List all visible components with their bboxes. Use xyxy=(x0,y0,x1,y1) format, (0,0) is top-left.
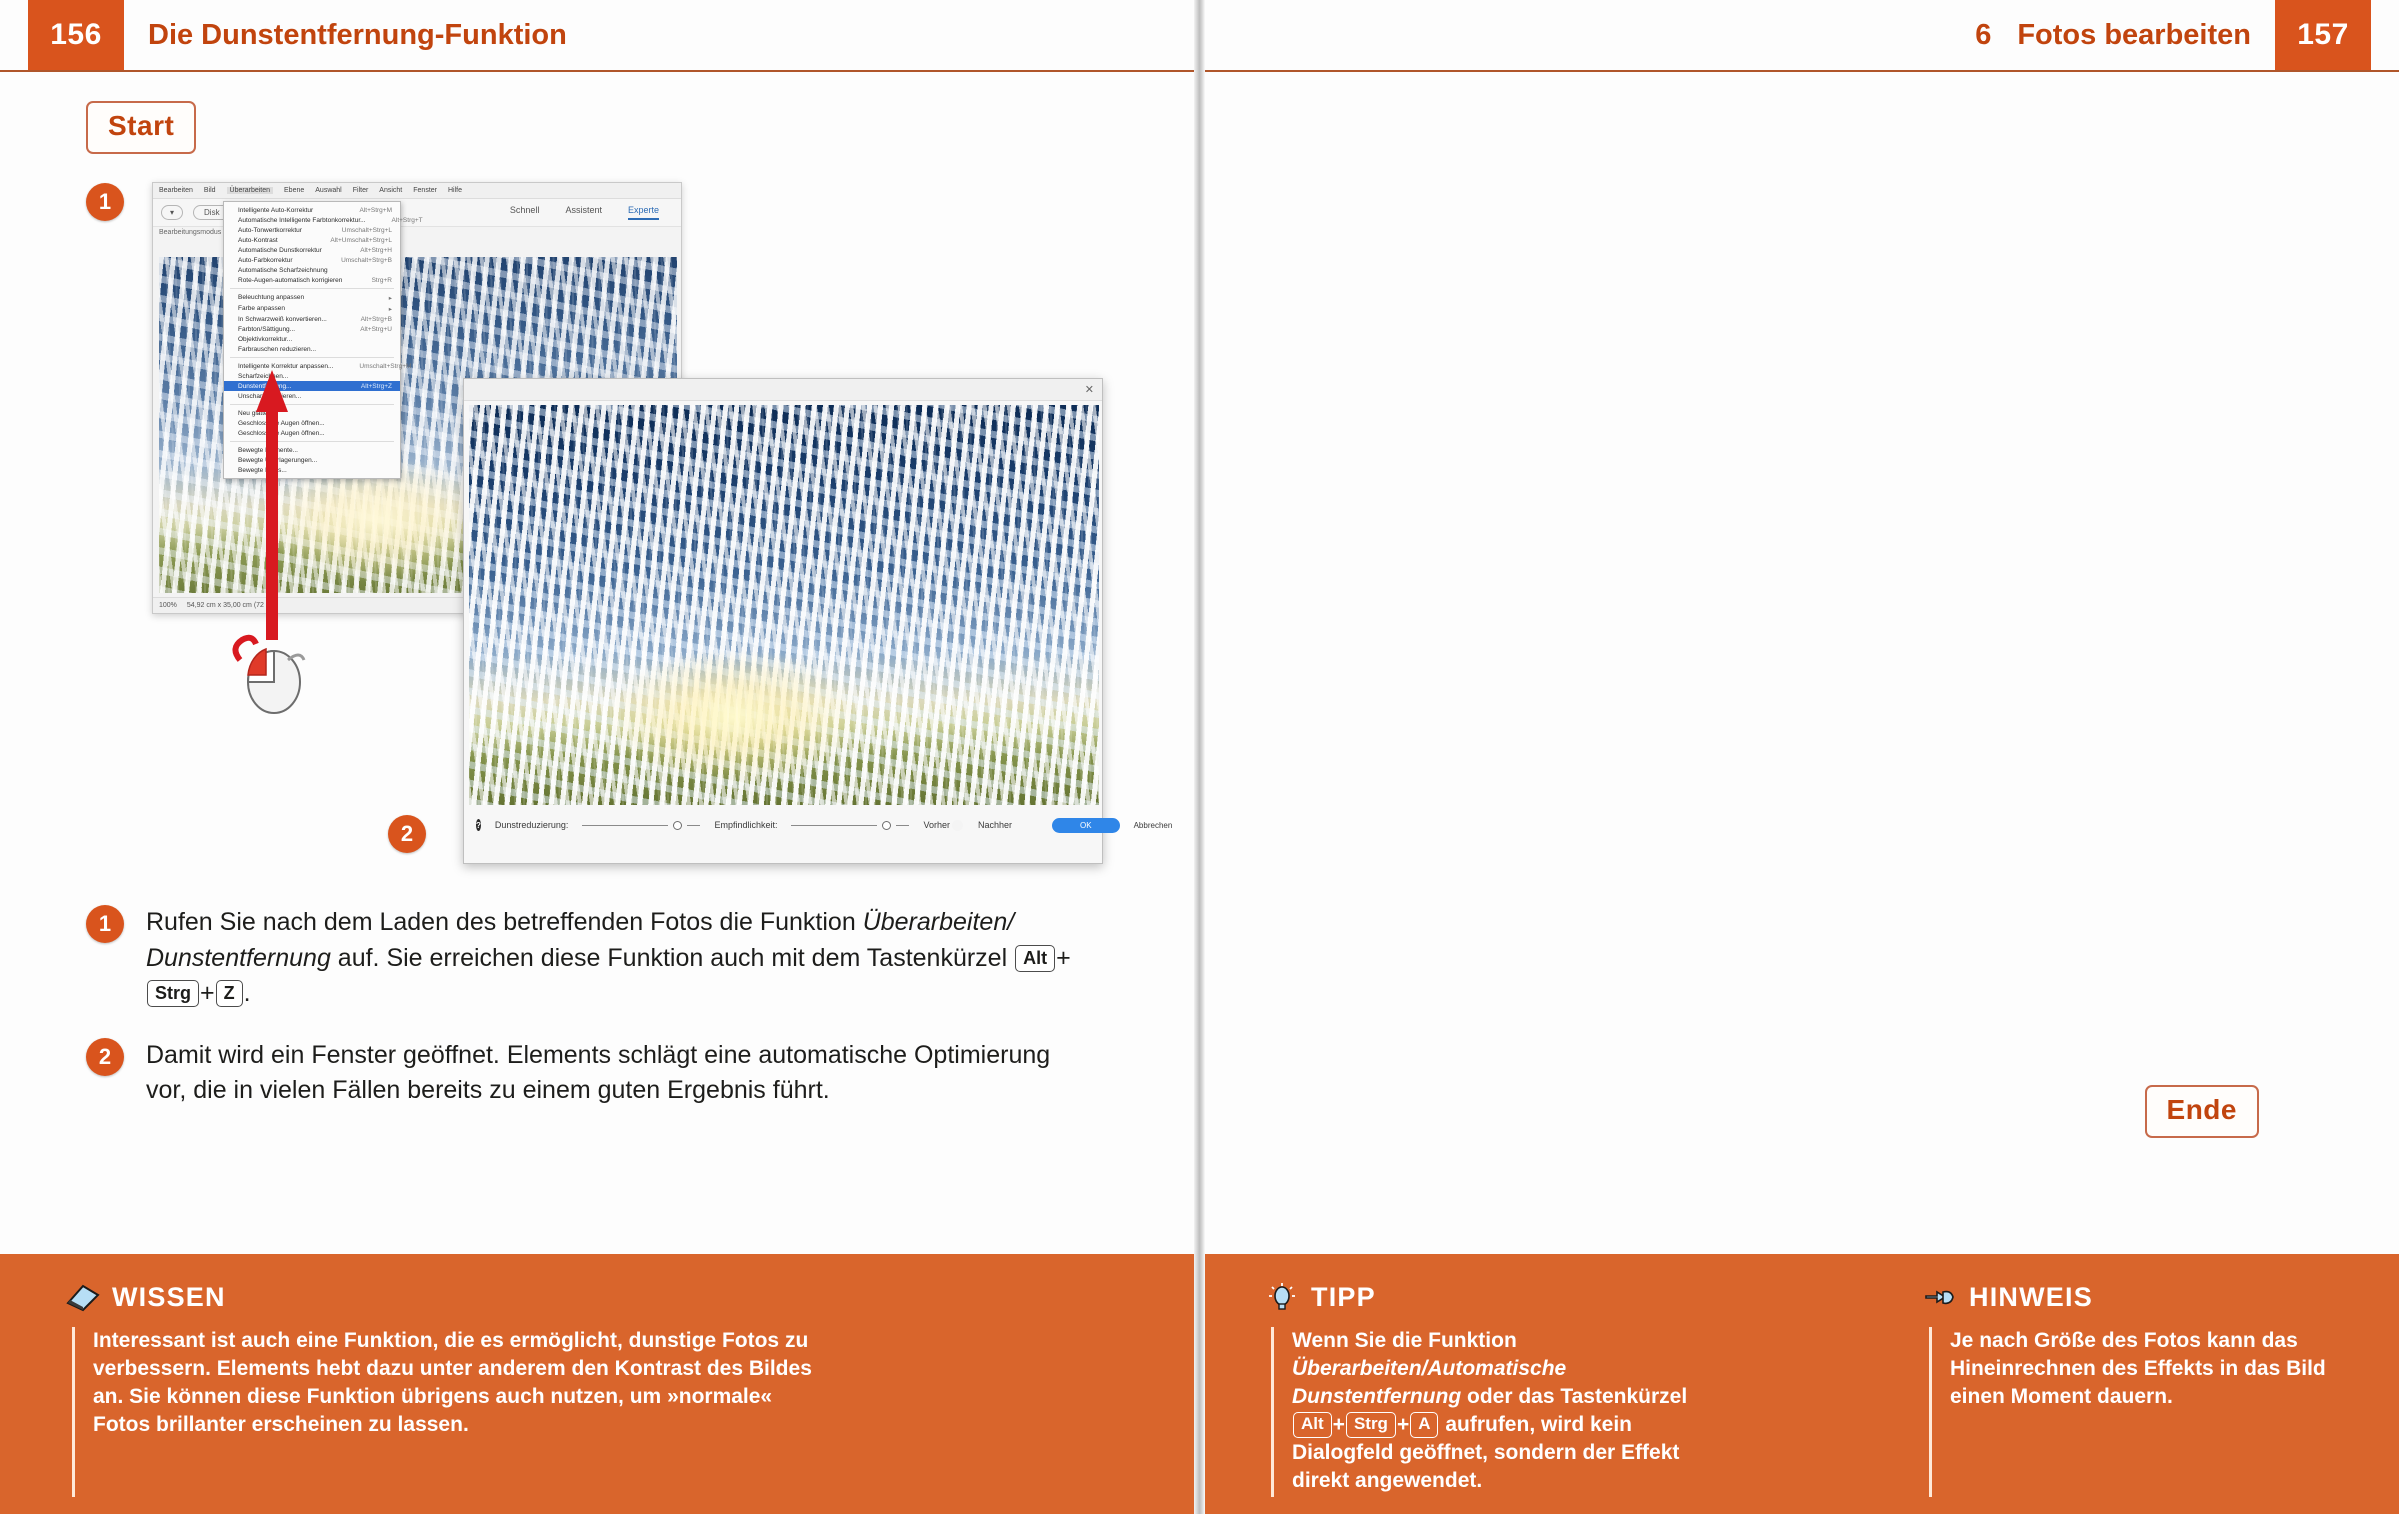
menu-item[interactable]: Auto-FarbkorrekturUmschalt+Strg+B xyxy=(224,255,400,265)
key-z: Z xyxy=(216,980,243,1007)
menu-item[interactable]: Automatische Scharfzeichnung xyxy=(224,265,400,275)
dialog-slider-1-label: Dunstreduzierung: xyxy=(495,820,569,830)
step-badge-1: 1 xyxy=(86,905,124,943)
header-rule-right xyxy=(1199,70,2399,72)
menu-ansicht[interactable]: Ansicht xyxy=(379,187,402,194)
ok-button[interactable]: OK xyxy=(1052,818,1120,833)
menu-hilfe[interactable]: Hilfe xyxy=(448,187,462,194)
menu-item[interactable]: Beleuchtung anpassen▸ xyxy=(224,292,400,303)
dialog-slider-2-label: Empfindlichkeit: xyxy=(714,820,777,830)
menu-item[interactable]: Auto-KontrastAlt+Umschalt+Strg+L xyxy=(224,235,400,245)
dialog-title-bar: ✕ xyxy=(464,379,1102,401)
mouse-cursor-icon-1 xyxy=(228,630,310,716)
key-alt: Alt xyxy=(1015,945,1055,972)
panel-tipp: TIPP Wenn Sie die Funktion Überarbeiten/… xyxy=(1199,1254,1879,1514)
chapter-number: 6 xyxy=(1975,19,1991,52)
chapter-title: Fotos bearbeiten xyxy=(2017,19,2251,52)
start-button[interactable]: Start xyxy=(86,101,196,154)
menu-item[interactable]: Auto-TonwertkorrekturUmschalt+Strg+L xyxy=(224,225,400,235)
slider-stub xyxy=(896,825,909,826)
tab-experte[interactable]: Experte xyxy=(628,205,659,220)
menu-separator xyxy=(230,288,394,289)
chevron-down-icon[interactable]: ▾ xyxy=(161,205,183,220)
panel-wissen-title: WISSEN xyxy=(112,1282,226,1313)
dialog-preview-photo xyxy=(469,405,1099,805)
key-alt: Alt xyxy=(1293,1412,1332,1438)
step-text-2: Damit wird ein Fenster geöffnet. Element… xyxy=(146,1038,1096,1109)
menu-bearbeiten[interactable]: Bearbeiten xyxy=(159,187,193,194)
close-icon[interactable]: ✕ xyxy=(1085,383,1094,396)
step-marker-1: 1 xyxy=(86,183,124,221)
step-item-2: 2 Damit wird ein Fenster geöffnet. Eleme… xyxy=(86,1038,1096,1109)
left-step-list: 1 Rufen Sie nach dem Laden des betreffen… xyxy=(86,905,1096,1135)
step-badge-2: 2 xyxy=(86,1038,124,1076)
after-label: Nachher xyxy=(978,820,1012,830)
left-head-title: Die Dunstentfernung-Funktion xyxy=(148,0,567,70)
menu-filter[interactable]: Filter xyxy=(353,187,369,194)
menu-item[interactable]: Automatische DunstkorrekturAlt+Strg+H xyxy=(224,245,400,255)
menu-item[interactable]: In Schwarzweiß konvertieren...Alt+Strg+B xyxy=(224,314,400,324)
dialog-footer: ? Dunstreduzierung: Empfindlichkeit: Vor… xyxy=(464,805,1102,845)
slider-knob[interactable] xyxy=(882,821,891,830)
dialog-dunstentfernung: ✕ ? Dunstreduzierung: Empfindlichkeit: V… xyxy=(463,378,1103,864)
right-running-head: 6 Fotos bearbeiten 157 xyxy=(1199,0,2399,72)
before-label: Vorher xyxy=(923,820,950,830)
header-rule-left xyxy=(0,70,1199,72)
step-text-1: Rufen Sie nach dem Laden des betreffende… xyxy=(146,905,1096,1012)
right-head-title: 6 Fotos bearbeiten xyxy=(1975,0,2251,70)
panel-hinweis: HINWEIS Je nach Größe des Fotos kann das… xyxy=(1879,1254,2399,1514)
key-strg: Strg xyxy=(147,980,199,1007)
menu-item[interactable]: Automatische Intelligente Farbtonkorrekt… xyxy=(224,215,400,225)
red-arrow-up-1 xyxy=(248,370,296,640)
panel-tipp-body: Wenn Sie die Funktion Überarbeiten/Autom… xyxy=(1271,1327,1701,1497)
step-item-1: 1 Rufen Sie nach dem Laden des betreffen… xyxy=(86,905,1096,1012)
slider-knob[interactable] xyxy=(673,821,682,830)
slider-dunstreduzierung[interactable] xyxy=(582,821,700,830)
panel-hinweis-body: Je nach Größe des Fotos kann das Hineinr… xyxy=(1929,1327,2359,1497)
menu-fenster[interactable]: Fenster xyxy=(413,187,437,194)
panel-hinweis-head: HINWEIS xyxy=(1923,1282,2399,1313)
left-running-head: 156 Die Dunstentfernung-Funktion xyxy=(0,0,1199,72)
right-panels: TIPP Wenn Sie die Funktion Überarbeiten/… xyxy=(1199,1254,2399,1514)
panel-wissen-body: Interessant ist auch eine Funktion, die … xyxy=(72,1327,832,1497)
end-button[interactable]: Ende xyxy=(2145,1085,2259,1138)
pointing-hand-icon xyxy=(1923,1283,1957,1313)
left-panels: WISSEN Interessant ist auch eine Funktio… xyxy=(0,1254,1199,1514)
menu-bild[interactable]: Bild xyxy=(204,187,216,194)
status-zoom: 100% xyxy=(159,602,177,609)
menu-item[interactable]: Intelligente Auto-KorrekturAlt+Strg+M xyxy=(224,205,400,215)
key-strg: Strg xyxy=(1346,1412,1396,1438)
menu-separator xyxy=(230,357,394,358)
panel-hinweis-title: HINWEIS xyxy=(1969,1282,2093,1313)
menu-item[interactable]: Farbe anpassen▸ xyxy=(224,303,400,314)
panel-tipp-head: TIPP xyxy=(1265,1282,1879,1313)
left-page: 156 Die Dunstentfernung-Funktion Start 1… xyxy=(0,0,1199,1514)
tab-schnell[interactable]: Schnell xyxy=(510,205,540,220)
menu-auswahl[interactable]: Auswahl xyxy=(315,187,341,194)
menu-item[interactable]: Rote-Augen-automatisch korrigierenStrg+R xyxy=(224,275,400,285)
right-page: 6 Fotos bearbeiten 157 3 ? Dunstreduzier… xyxy=(1199,0,2399,1514)
slider-empfindlichkeit[interactable] xyxy=(791,821,909,830)
menu-item[interactable]: Objektivkorrektur... xyxy=(224,334,400,344)
mode-tabs[interactable]: Schnell Assistent Experte xyxy=(510,205,673,220)
menu-item[interactable]: Farbton/Sättigung...Alt+Strg+U xyxy=(224,324,400,334)
menu-ebene[interactable]: Ebene xyxy=(284,187,304,194)
lightbulb-icon xyxy=(1265,1283,1299,1313)
step-marker-2: 2 xyxy=(388,815,426,853)
key-a: A xyxy=(1410,1412,1438,1438)
cancel-button[interactable]: Abbrechen xyxy=(1134,821,1173,830)
menu-ueberarbeiten[interactable]: Überarbeiten xyxy=(227,187,273,194)
menu-item[interactable]: Farbrauschen reduzieren... xyxy=(224,344,400,354)
slider-track[interactable] xyxy=(582,825,668,826)
panel-tipp-title: TIPP xyxy=(1311,1282,1376,1313)
tab-assistent[interactable]: Assistent xyxy=(565,205,602,220)
page-number-right: 157 xyxy=(2275,0,2371,70)
slider-track[interactable] xyxy=(791,825,877,826)
slider-stub xyxy=(687,825,700,826)
book-icon xyxy=(66,1283,100,1313)
page-number-left: 156 xyxy=(28,0,124,70)
menubar[interactable]: Bearbeiten Bild Überarbeiten Ebene Auswa… xyxy=(153,183,681,199)
info-icon[interactable]: ? xyxy=(476,819,481,831)
panel-wissen-head: WISSEN xyxy=(66,1282,1199,1313)
panel-wissen: WISSEN Interessant ist auch eine Funktio… xyxy=(0,1254,1199,1514)
book-spread: 156 Die Dunstentfernung-Funktion Start 1… xyxy=(0,0,2399,1514)
